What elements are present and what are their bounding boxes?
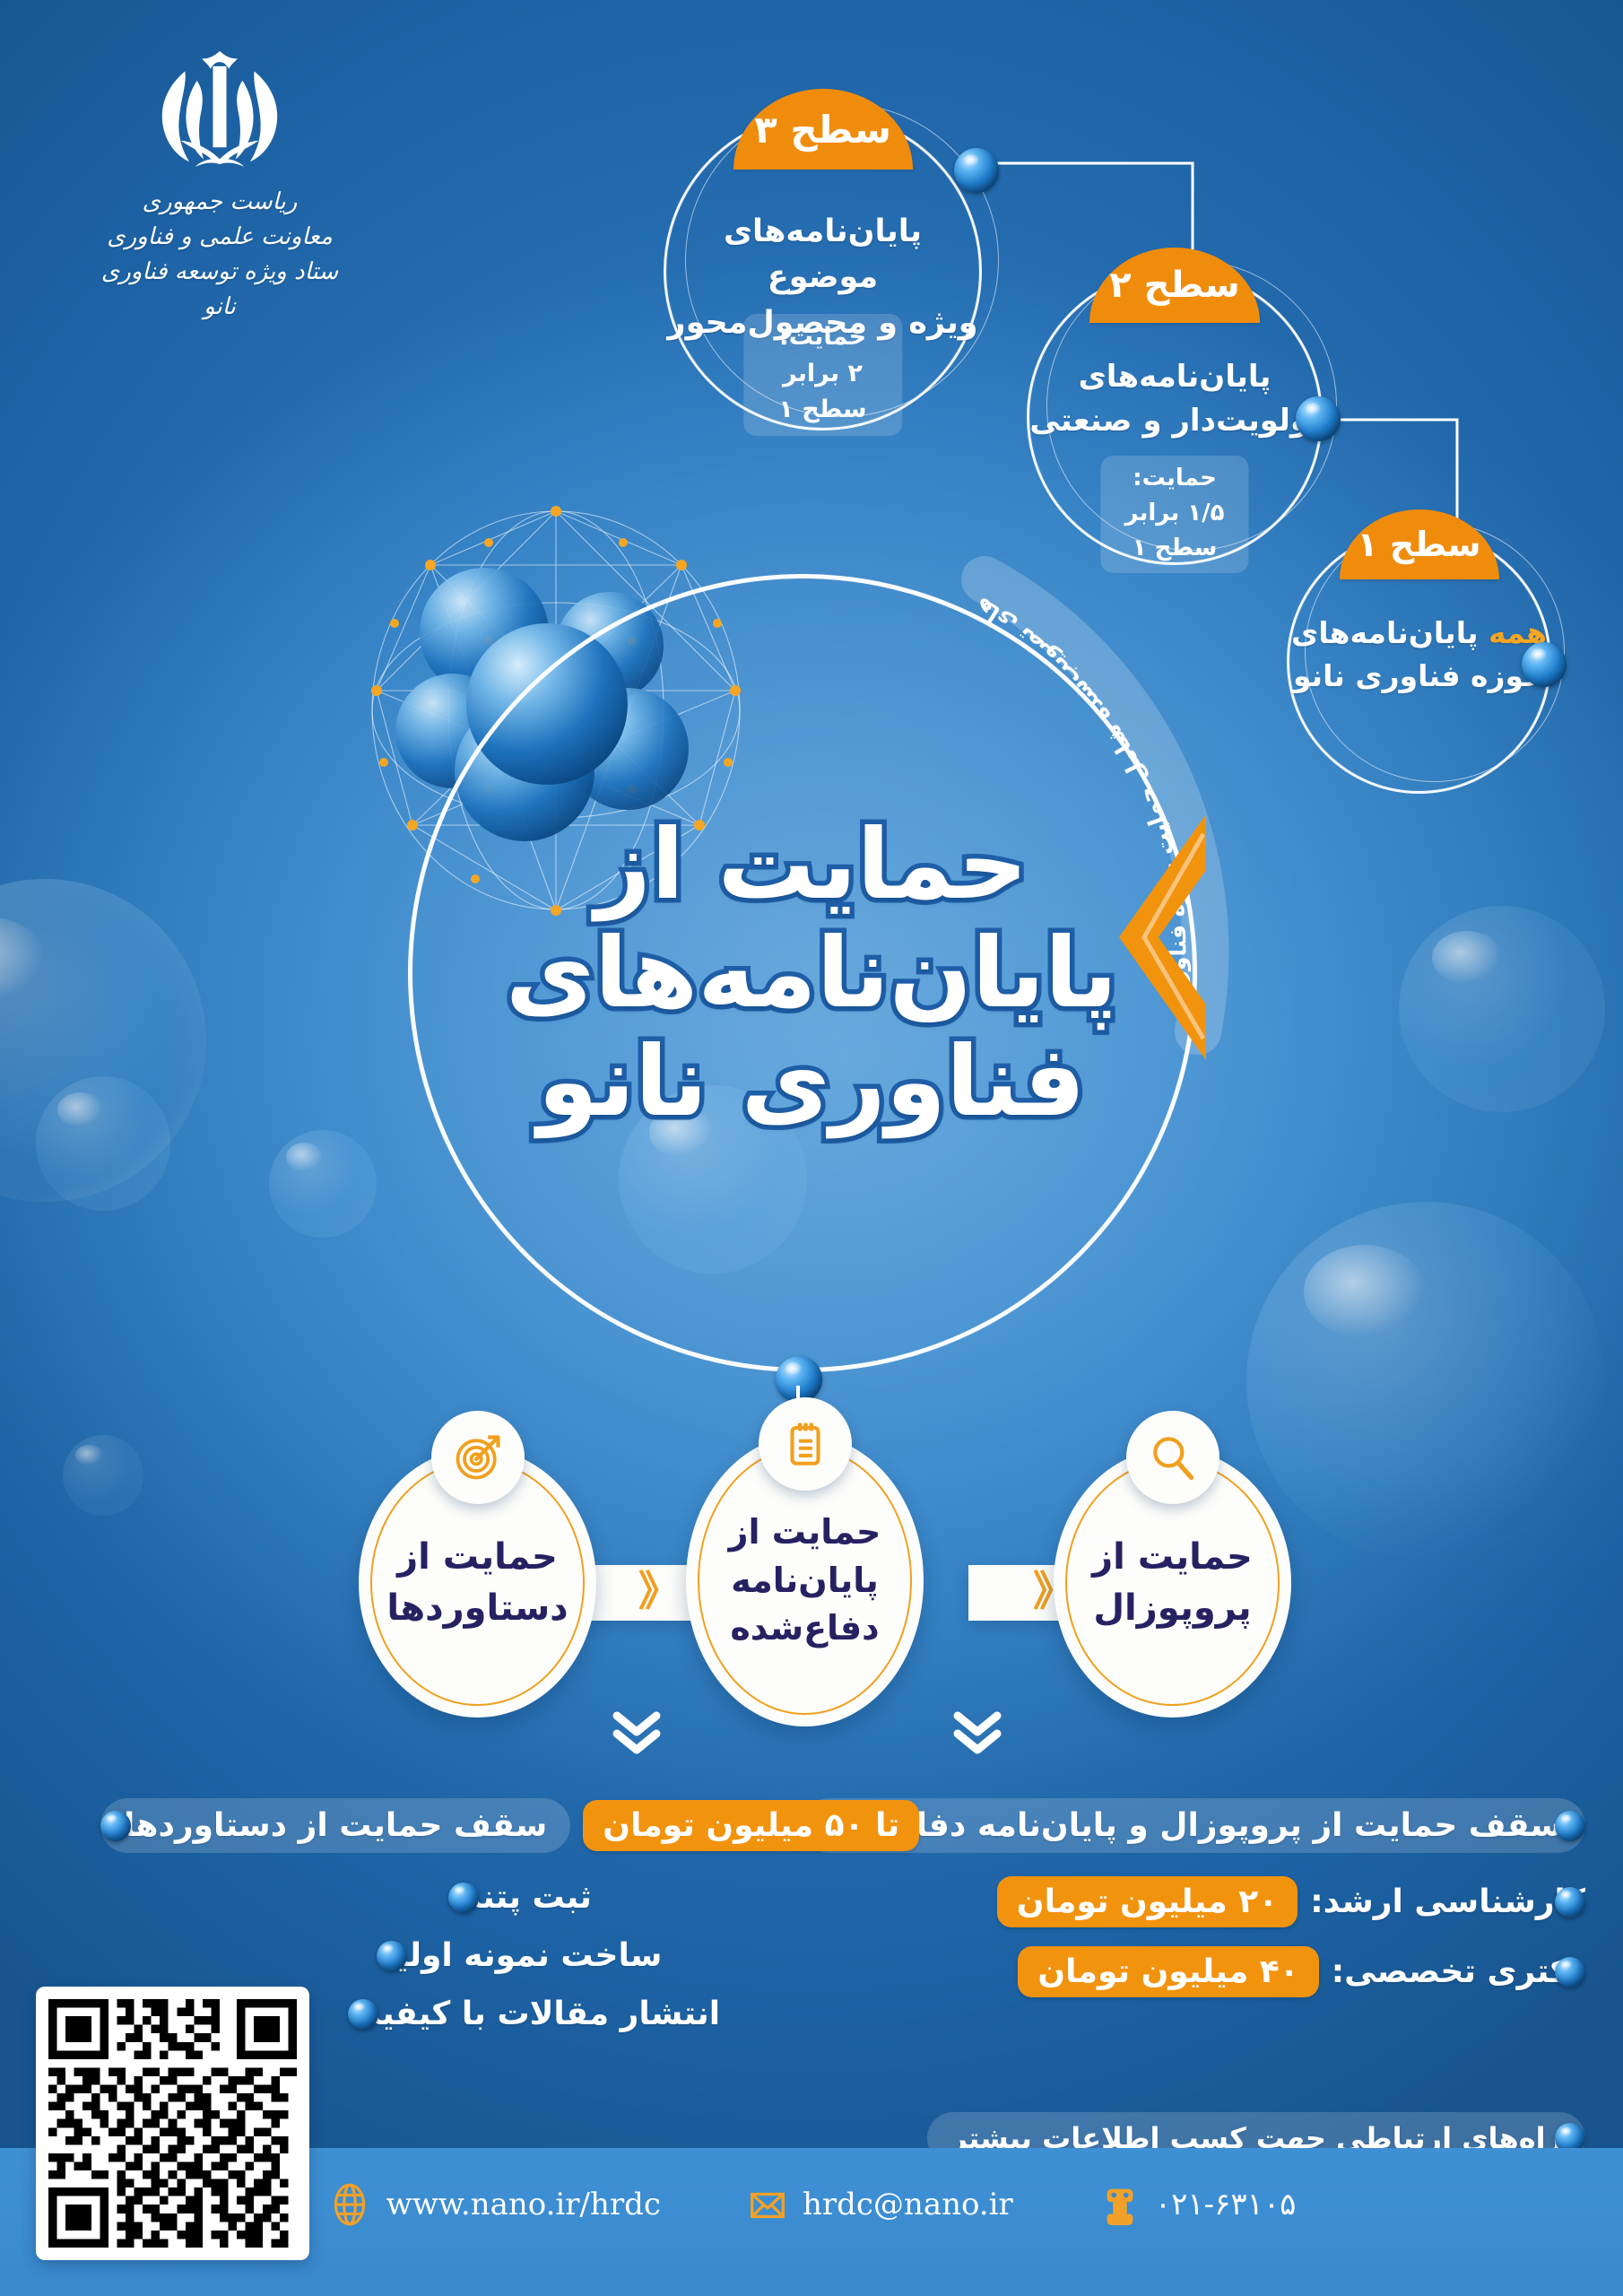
stage-proposal-line2: پروپوزال — [1093, 1587, 1251, 1629]
bullet-bead-icon — [1555, 1811, 1585, 1841]
funding-right-item-row: دکتری تخصصی: ۴۰ میلیون تومان — [1018, 1946, 1585, 1997]
chevron-down-icon — [950, 1709, 1004, 1759]
stage-achievements[interactable]: حمایت از دستاوردها — [359, 1448, 596, 1718]
stage-proposal[interactable]: حمایت از پروپوزال — [1054, 1448, 1291, 1718]
contact-website-value: www.nano.ir/hrdc — [386, 2187, 661, 2222]
stage-defended-thesis[interactable]: حمایت از پایان‌نامه دفاع‌شده — [686, 1435, 924, 1726]
email-icon — [747, 2184, 788, 2225]
qr-code-image — [48, 1999, 297, 2248]
bullet-bead-icon — [1555, 1887, 1585, 1918]
phone-icon — [1099, 2184, 1141, 2225]
title-line-2: پایان‌نامه‌های — [0, 920, 1623, 1029]
stage-achievements-line1: حمایت از — [397, 1536, 558, 1578]
contact-phone-value: ۰۲۱-۶۳۱۰۵ — [1155, 2187, 1297, 2222]
title-line-3: فناوری نانو — [0, 1029, 1623, 1137]
funding-left-item-row: انتشار مقالات با کیفیت — [348, 1996, 720, 2032]
stage-achievements-line2: دستاوردها — [386, 1587, 568, 1629]
bullet-bead-icon — [377, 1941, 407, 1971]
funding-right-item-0-label: کارشناسی ارشد: — [1310, 1883, 1585, 1920]
stage-defended-label: حمایت از پایان‌نامه دفاع‌شده — [718, 1509, 892, 1654]
funding-left-header-row: سقف حمایت از دستاوردها تا ۵۰ میلیون توما… — [100, 1798, 919, 1853]
bullet-bead-icon — [348, 1999, 378, 2030]
bullet-bead-icon — [1555, 1957, 1585, 1987]
funding-right-item-0-amount: ۲۰ میلیون تومان — [997, 1876, 1298, 1927]
clipboard-icon — [759, 1397, 852, 1491]
qr-code[interactable] — [36, 1987, 309, 2260]
target-arrow-icon — [431, 1411, 525, 1504]
funding-left-item-row: ثبت پتنت — [448, 1879, 592, 1916]
funding-left-item-1: ساخت نمونه اولیه — [377, 1937, 662, 1974]
poster-canvas: ریاست جمهوری معاونت علمی و فناوری ستاد و… — [0, 0, 1623, 2296]
stage-achievements-label: حمایت از دستاوردها — [376, 1532, 578, 1634]
globe-icon — [327, 2182, 372, 2227]
title-line-1: حمایت از — [0, 812, 1623, 920]
funding-right-item-1-label: دکتری تخصصی: — [1332, 1953, 1585, 1990]
stage-defended-line1: حمایت از — [729, 1512, 881, 1552]
contact-item-email[interactable]: hrdc@nano.ir — [747, 2184, 1013, 2225]
magnifier-icon — [1126, 1411, 1219, 1504]
funding-left-item-2: انتشار مقالات با کیفیت — [348, 1996, 720, 2032]
bullet-bead-icon — [448, 1883, 479, 1913]
contact-item-website[interactable]: www.nano.ir/hrdc — [327, 2182, 661, 2227]
funding-right-item-row: کارشناسی ارشد: ۲۰ میلیون تومان — [997, 1876, 1585, 1927]
funding-left-item-row: ساخت نمونه اولیه — [377, 1937, 662, 1974]
contact-email-value: hrdc@nano.ir — [803, 2187, 1013, 2222]
bullet-bead-icon — [100, 1811, 131, 1841]
funding-left-amount: تا ۵۰ میلیون تومان — [583, 1800, 919, 1851]
funding-right-item-1-amount: ۴۰ میلیون تومان — [1018, 1946, 1318, 1997]
stage-proposal-label: حمایت از پروپوزال — [1081, 1532, 1263, 1634]
stage-proposal-line1: حمایت از — [1092, 1536, 1253, 1578]
contact-item-phone[interactable]: ۰۲۱-۶۳۱۰۵ — [1099, 2184, 1297, 2225]
chevron-down-icon — [610, 1709, 664, 1759]
page-title: حمایت از پایان‌نامه‌های فناوری نانو — [0, 812, 1623, 1137]
hero-arc-text: همه پایان‌نامه‌های تصویب‌شده شامل حمایت … — [0, 0, 1623, 1525]
stage-defended-line3: دفاع‌شده — [730, 1608, 879, 1648]
funding-left-header: سقف حمایت از دستاوردها — [100, 1798, 570, 1853]
stage-defended-line2: پایان‌نامه — [731, 1561, 879, 1600]
